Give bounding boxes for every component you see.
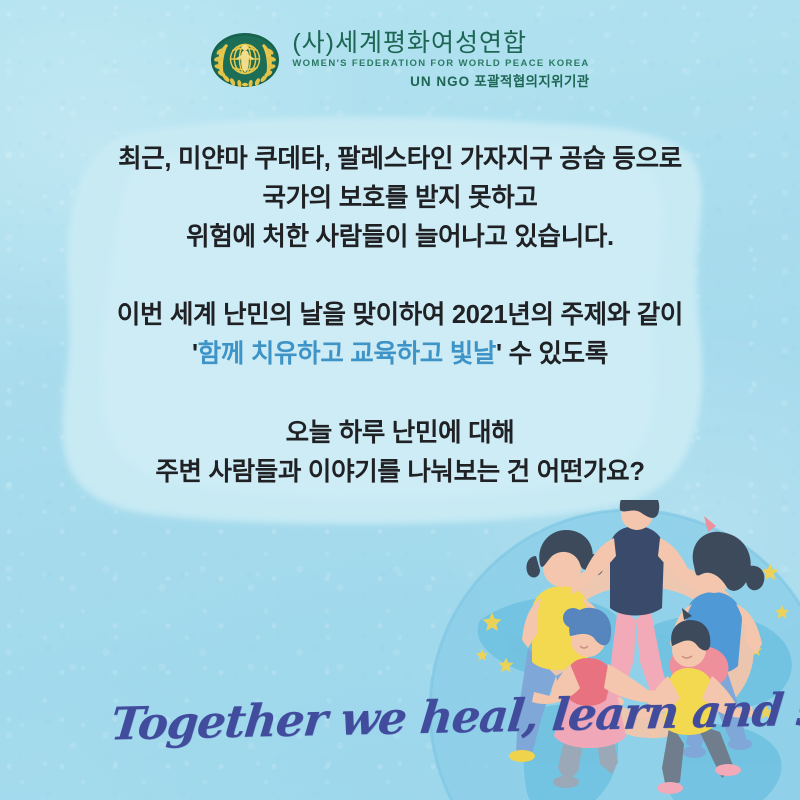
paragraph-2-line-1: 이번 세계 난민의 날을 맞이하여 2021년의 주제와 같이 bbox=[40, 296, 760, 335]
paragraph-1-line-3: 위험에 처한 사람들이 늘어나고 있습니다. bbox=[40, 218, 760, 257]
message-body: 최근, 미얀마 쿠데타, 팔레스타인 가자지구 공습 등으로 국가의 보호를 받… bbox=[0, 140, 800, 491]
poster-canvas: (사)세계평화여성연합 WOMEN'S FEDERATION FOR WORLD… bbox=[0, 0, 800, 800]
quote-close-and-tail: ' 수 있도록 bbox=[496, 340, 608, 368]
theme-highlight-text: 함께 치유하고 교육하고 빛날 bbox=[198, 340, 496, 368]
un-ngo-korean: 포괄적협의지위기관 bbox=[474, 74, 589, 89]
org-name-english: WOMEN'S FEDERATION FOR WORLD PEACE KOREA bbox=[292, 58, 589, 70]
earth-globe-illustration bbox=[420, 500, 800, 800]
paragraph-2-line-2: '함께 치유하고 교육하고 빛날' 수 있도록 bbox=[40, 335, 760, 374]
org-name-korean: (사)세계평화여성연합 bbox=[292, 30, 527, 57]
paragraph-3-line-2: 주변 사람들과 이야기를 나눠보는 건 어떤가요? bbox=[40, 453, 760, 492]
tagline-script-text: Together we heal, learn and shine bbox=[108, 680, 800, 750]
header: (사)세계평화여성연합 WOMEN'S FEDERATION FOR WORLD… bbox=[0, 30, 800, 91]
people-holding-hands-illustration bbox=[470, 500, 800, 800]
un-ngo-prefix: UN NGO bbox=[410, 74, 470, 89]
paragraph-spacer-1 bbox=[40, 256, 760, 296]
paragraph-1-line-1: 최근, 미얀마 쿠데타, 팔레스타인 가자지구 공습 등으로 bbox=[40, 140, 760, 179]
paragraph-3-line-1: 오늘 하루 난민에 대해 bbox=[40, 414, 760, 453]
paragraph-1-line-2: 국가의 보호를 받지 못하고 bbox=[40, 179, 760, 218]
un-ngo-status: UN NGO 포괄적협의지위기관 bbox=[410, 73, 590, 91]
organization-name-block: (사)세계평화여성연합 WOMEN'S FEDERATION FOR WORLD… bbox=[292, 30, 589, 91]
wfwp-globe-laurel-logo-icon bbox=[210, 32, 280, 88]
paragraph-spacer-2 bbox=[40, 374, 760, 414]
